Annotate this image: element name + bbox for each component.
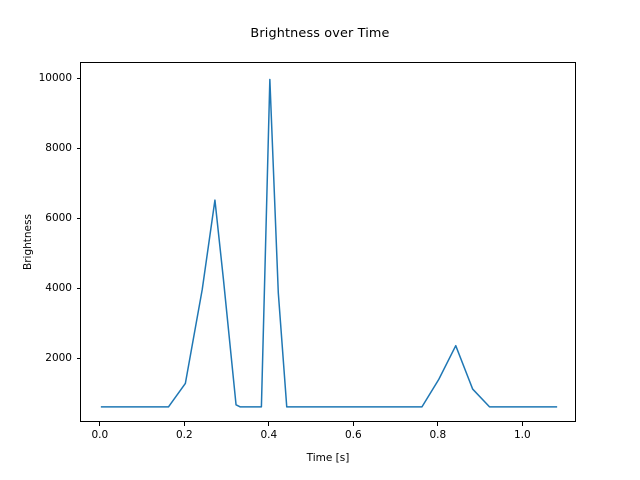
y-tickmark bbox=[77, 148, 81, 149]
x-tick-label: 0.6 bbox=[345, 429, 362, 441]
brightness-line bbox=[101, 79, 557, 406]
y-tickmark bbox=[77, 78, 81, 79]
y-tickmark bbox=[77, 358, 81, 359]
x-tickmark bbox=[522, 422, 523, 426]
x-tickmark bbox=[99, 422, 100, 426]
y-tickmark bbox=[77, 218, 81, 219]
x-tickmark bbox=[437, 422, 438, 426]
y-tick-label: 8000 bbox=[0, 142, 72, 154]
x-tick-label: 0.8 bbox=[429, 429, 446, 441]
x-tick-label: 0.0 bbox=[91, 429, 108, 441]
chart-figure: Brightness over Time Brightness Time [s]… bbox=[0, 0, 640, 480]
y-tick-label: 6000 bbox=[0, 212, 72, 224]
plot-area bbox=[80, 62, 576, 422]
x-tick-label: 0.2 bbox=[176, 429, 193, 441]
x-tickmark bbox=[268, 422, 269, 426]
y-tick-label: 4000 bbox=[0, 282, 72, 294]
x-tickmark bbox=[184, 422, 185, 426]
data-line-svg bbox=[81, 63, 577, 423]
y-axis-label: Brightness bbox=[22, 62, 34, 422]
y-tick-label: 2000 bbox=[0, 352, 72, 364]
y-tick-label: 10000 bbox=[0, 72, 72, 84]
x-tickmark bbox=[353, 422, 354, 426]
chart-title: Brightness over Time bbox=[0, 26, 640, 41]
y-tickmark bbox=[77, 288, 81, 289]
x-tick-label: 0.4 bbox=[260, 429, 277, 441]
x-axis-label: Time [s] bbox=[80, 452, 576, 464]
x-tick-label: 1.0 bbox=[514, 429, 531, 441]
